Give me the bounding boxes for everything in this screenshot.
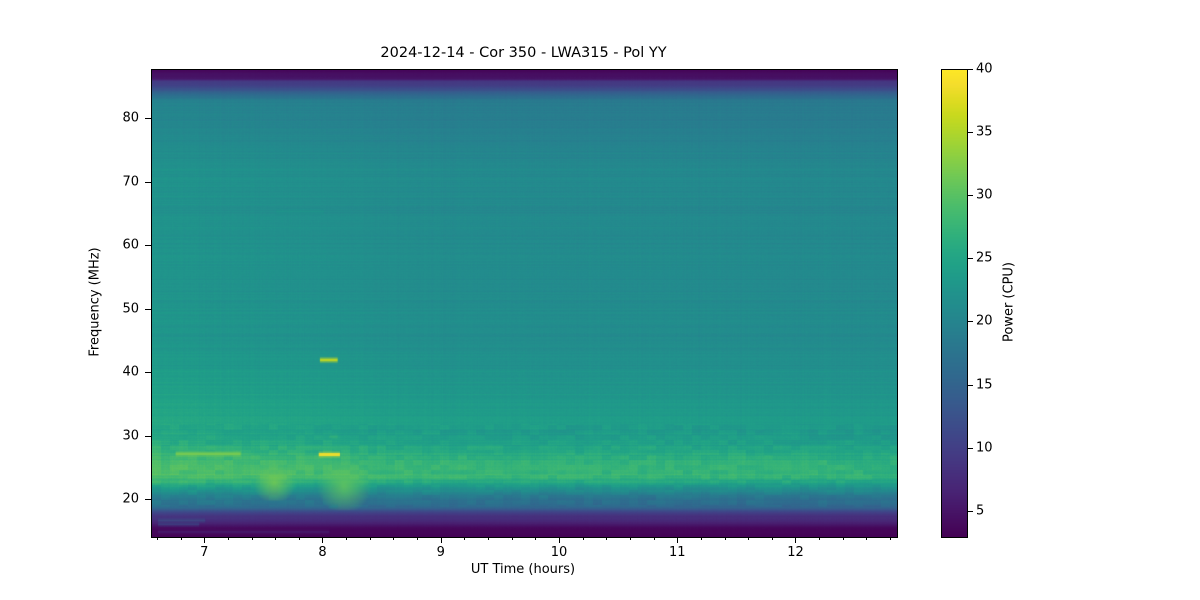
x-axis-tick-label: 7 — [200, 545, 208, 560]
y-axis-tick — [145, 372, 151, 373]
colorbar-tick-label: 10 — [976, 440, 993, 455]
spectrogram-axes[interactable] — [151, 69, 898, 538]
colorbar-gradient — [942, 70, 967, 537]
colorbar-tick-label: 35 — [976, 125, 993, 140]
colorbar-tick-label: 25 — [976, 251, 993, 266]
x-axis-tick — [441, 537, 442, 543]
x-axis-tick — [322, 537, 323, 543]
colorbar-tick — [967, 448, 973, 449]
x-axis-minor-tick — [275, 537, 276, 540]
x-axis-tick-label: 10 — [551, 545, 568, 560]
x-axis-minor-tick — [464, 537, 465, 540]
x-axis-minor-tick — [370, 537, 371, 540]
x-axis-minor-tick — [748, 537, 749, 540]
x-axis-tick — [677, 537, 678, 543]
y-axis-tick-label: 60 — [103, 238, 139, 253]
x-axis-tick-label: 8 — [318, 545, 326, 560]
y-axis-tick — [145, 309, 151, 310]
x-axis-minor-tick — [535, 537, 536, 540]
y-axis-tick-label: 70 — [103, 174, 139, 189]
y-axis-tick — [145, 182, 151, 183]
colorbar-tick-label: 40 — [976, 62, 993, 77]
x-axis-minor-tick — [393, 537, 394, 540]
x-axis-label: UT Time (hours) — [471, 562, 575, 577]
colorbar-tick — [967, 195, 973, 196]
x-axis-minor-tick — [299, 537, 300, 540]
colorbar-tick — [967, 132, 973, 133]
colorbar-tick — [967, 258, 973, 259]
colorbar-tick-label: 20 — [976, 314, 993, 329]
x-axis-tick — [204, 537, 205, 543]
x-axis-minor-tick — [228, 537, 229, 540]
x-axis-minor-tick — [181, 537, 182, 540]
spectrogram-heatmap[interactable] — [152, 70, 897, 537]
x-axis-minor-tick — [157, 537, 158, 540]
y-axis-tick-label: 30 — [103, 428, 139, 443]
y-axis-tick — [145, 118, 151, 119]
x-axis-tick-label: 12 — [787, 545, 804, 560]
colorbar-tick — [967, 385, 973, 386]
x-axis-tick — [795, 537, 796, 543]
figure-canvas: 2024-12-14 - Cor 350 - LWA315 - Pol YY 2… — [0, 0, 1200, 600]
y-axis-tick — [145, 245, 151, 246]
colorbar-tick-label: 5 — [976, 503, 984, 518]
x-axis-minor-tick — [772, 537, 773, 540]
x-axis-minor-tick — [654, 537, 655, 540]
y-axis-label: Frequency (MHz) — [88, 247, 103, 356]
x-axis-minor-tick — [701, 537, 702, 540]
x-axis-minor-tick — [890, 537, 891, 540]
x-axis-minor-tick — [866, 537, 867, 540]
x-axis-minor-tick — [819, 537, 820, 540]
x-axis-minor-tick — [512, 537, 513, 540]
x-axis-minor-tick — [252, 537, 253, 540]
colorbar-label: Power (CPU) — [1002, 262, 1017, 342]
x-axis-minor-tick — [346, 537, 347, 540]
x-axis-minor-tick — [488, 537, 489, 540]
x-axis-minor-tick — [843, 537, 844, 540]
colorbar-tick — [967, 511, 973, 512]
x-axis-minor-tick — [725, 537, 726, 540]
colorbar-tick — [967, 321, 973, 322]
x-axis-tick-label: 11 — [669, 545, 686, 560]
page-title: 2024-12-14 - Cor 350 - LWA315 - Pol YY — [151, 45, 896, 61]
y-axis-tick-label: 40 — [103, 365, 139, 380]
colorbar-tick-label: 30 — [976, 188, 993, 203]
y-axis-tick — [145, 499, 151, 500]
y-axis-tick-label: 20 — [103, 492, 139, 507]
x-axis-tick — [559, 537, 560, 543]
x-axis-minor-tick — [606, 537, 607, 540]
y-axis-tick — [145, 436, 151, 437]
colorbar-tick-label: 15 — [976, 377, 993, 392]
colorbar-tick — [967, 69, 973, 70]
y-axis-tick-label: 50 — [103, 301, 139, 316]
x-axis-minor-tick — [417, 537, 418, 540]
y-axis-tick-label: 80 — [103, 111, 139, 126]
x-axis-tick-label: 9 — [437, 545, 445, 560]
x-axis-minor-tick — [630, 537, 631, 540]
colorbar[interactable] — [941, 69, 968, 538]
x-axis-minor-tick — [583, 537, 584, 540]
